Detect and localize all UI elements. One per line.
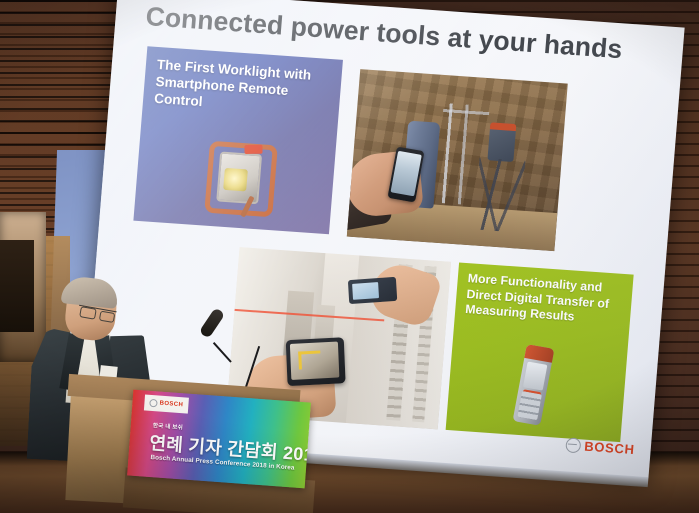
slide-photo-basement xyxy=(347,69,568,251)
laser-measure-product-image xyxy=(513,344,555,426)
worklight-product-image xyxy=(198,136,276,221)
laser-measure-device xyxy=(348,277,397,304)
slide-blue-panel: The First Worklight with Smartphone Remo… xyxy=(133,46,343,234)
lectern-event-banner: BOSCH 한국 내 보쉬 연례 기자 간담회 2018 Bosch Annua… xyxy=(127,390,311,489)
screenshot-root: Connected power tools at your hands The … xyxy=(0,0,699,513)
lectern-bosch-card: BOSCH xyxy=(144,394,189,413)
lectern: BOSCH 한국 내 보쉬 연례 기자 간담회 2018 Bosch Annua… xyxy=(58,382,308,513)
bosch-symbol-icon xyxy=(565,437,581,453)
basement-phone-screen xyxy=(390,151,421,196)
blue-panel-text: The First Worklight with Smartphone Remo… xyxy=(154,56,336,120)
slide-green-panel: More Functionality and Direct Digital Tr… xyxy=(446,262,634,442)
bosch-symbol-icon-small xyxy=(149,399,158,408)
worklight-led xyxy=(223,168,248,192)
microphone-gooseneck xyxy=(213,342,232,363)
worklight-handle-accent xyxy=(244,145,262,154)
tripod-legs xyxy=(474,158,526,233)
green-panel-text: More Functionality and Direct Digital Tr… xyxy=(465,271,630,329)
lectern-bosch-wordmark: BOSCH xyxy=(159,401,183,409)
laser-measure-screen xyxy=(352,282,379,300)
